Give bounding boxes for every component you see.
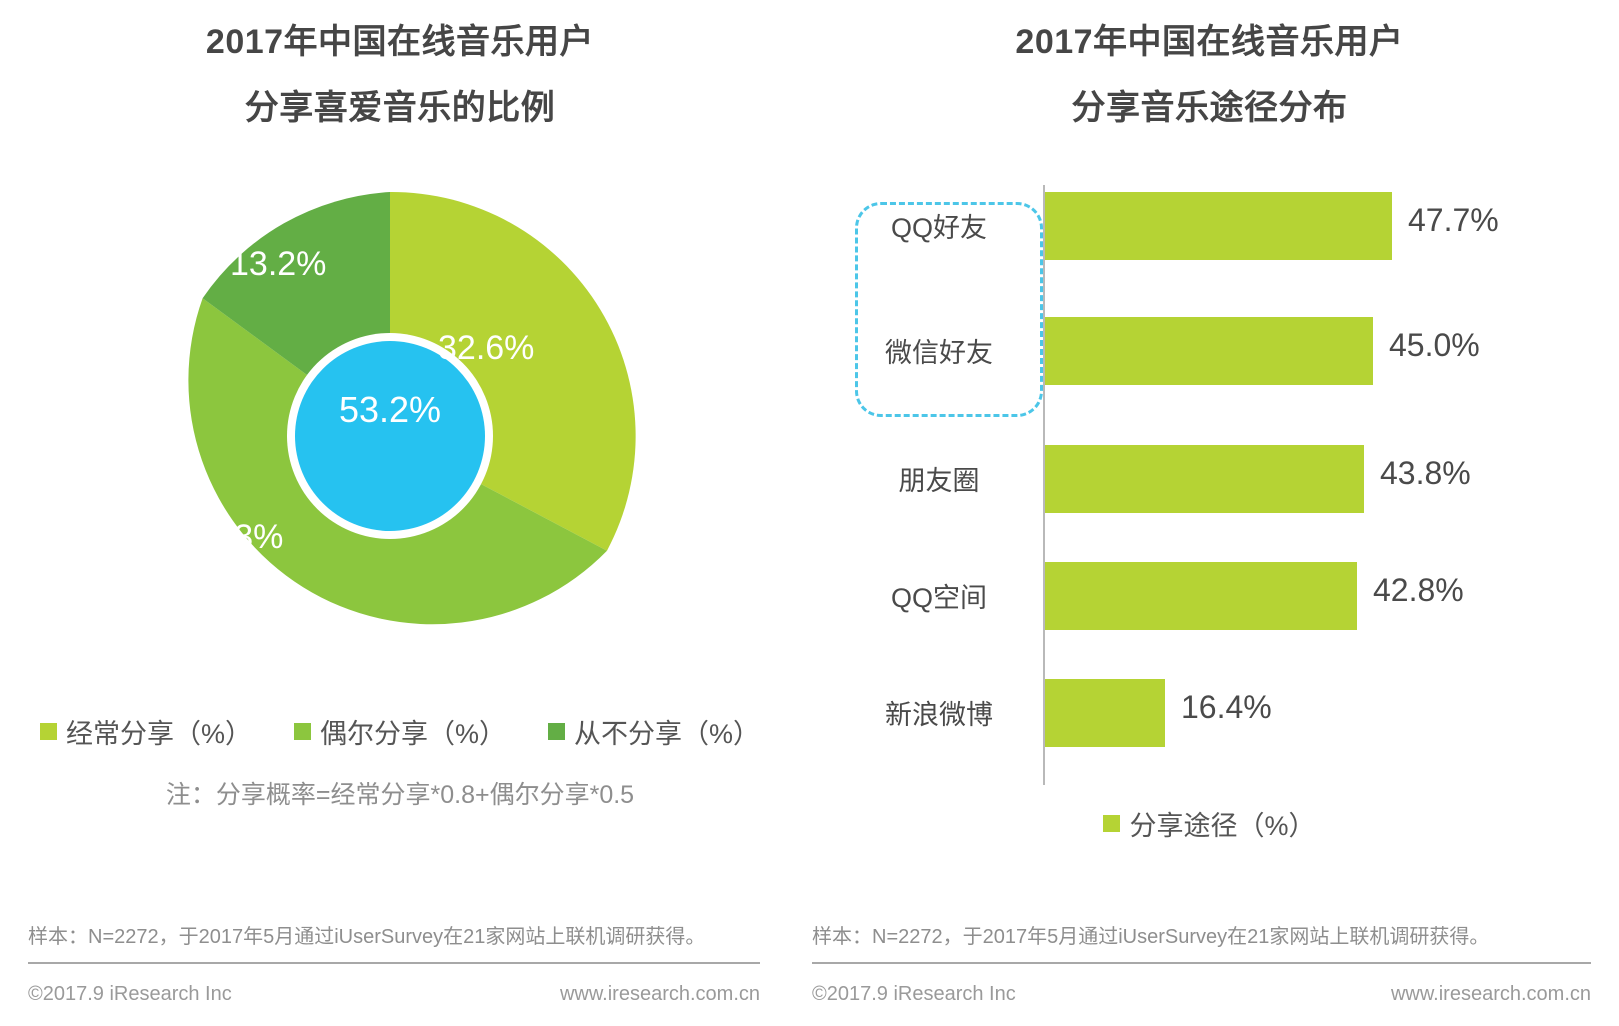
- bar-category-label-3: QQ空间: [834, 576, 1044, 615]
- donut-slice-label-2: 13.2%: [230, 245, 326, 284]
- bar-value-label-0: 47.7%: [1408, 202, 1499, 239]
- legend-label-2: 从不分享（%）: [574, 712, 760, 751]
- legend-swatch-icon-share-channel: [1103, 815, 1120, 832]
- footer-divider-left: [28, 962, 760, 964]
- chart-title-right-line2: 分享音乐途径分布: [800, 66, 1619, 132]
- chart-title-left-line1: 2017年中国在线音乐用户: [0, 0, 800, 66]
- bar-row-qzone[interactable]: QQ空间 42.8%: [800, 550, 1619, 640]
- bar-category-label-4: 新浪微博: [834, 693, 1044, 732]
- legend-right: 分享途径（%）: [800, 804, 1619, 843]
- bar-category-label-0: QQ好友: [834, 206, 1044, 245]
- legend-left: 经常分享（%） 偶尔分享（%） 从不分享（%）: [0, 712, 800, 751]
- chart-title-right-line1: 2017年中国在线音乐用户: [800, 0, 1619, 66]
- footer-sample-left: 样本：N=2272，于2017年5月通过iUserSurvey在21家网站上联机…: [28, 920, 705, 949]
- bar-row-sina-weibo[interactable]: 新浪微博 16.4%: [800, 667, 1619, 757]
- legend-label-1: 偶尔分享（%）: [320, 712, 506, 751]
- left-chart-panel: 2017年中国在线音乐用户 分享喜爱音乐的比例 32.6% 54.3% 13.2…: [0, 0, 800, 1026]
- legend-item-never-share[interactable]: 从不分享（%）: [548, 712, 760, 751]
- bar-value-label-2: 43.8%: [1380, 455, 1471, 492]
- bar-fill-3[interactable]: [1045, 562, 1357, 630]
- chart-note-left: 注：分享概率=经常分享*0.8+偶尔分享*0.5: [0, 775, 800, 811]
- legend-label-0: 经常分享（%）: [66, 712, 252, 751]
- footer-sample-right: 样本：N=2272，于2017年5月通过iUserSurvey在21家网站上联机…: [812, 920, 1489, 949]
- footer-divider-right: [812, 962, 1591, 964]
- bar-row-qq-friends[interactable]: QQ好友 47.7%: [800, 180, 1619, 270]
- bar-value-label-1: 45.0%: [1389, 327, 1480, 364]
- bar-fill-1[interactable]: [1045, 317, 1373, 385]
- bar-fill-4[interactable]: [1045, 679, 1165, 747]
- donut-center-value: 53.2%: [297, 389, 483, 431]
- footer-copyright-right: ©2017.9 iResearch Inc: [812, 983, 1016, 1006]
- chart-title-left-line2: 分享喜爱音乐的比例: [0, 66, 800, 132]
- footer-copyright-left: ©2017.9 iResearch Inc: [28, 983, 232, 1006]
- donut-center-circle[interactable]: [295, 341, 485, 531]
- page-title-right: 2017年中国在线音乐用户 分享音乐途径分布: [800, 0, 1619, 133]
- bar-category-label-2: 朋友圈: [834, 459, 1044, 498]
- donut-slice-label-1: 54.3%: [187, 518, 283, 557]
- bar-fill-2[interactable]: [1045, 445, 1364, 513]
- bar-value-label-4: 16.4%: [1181, 689, 1272, 726]
- legend-swatch-icon-0: [40, 723, 57, 740]
- legend-item-share-channel[interactable]: 分享途径（%）: [1103, 804, 1315, 843]
- legend-label-share-channel: 分享途径（%）: [1129, 804, 1315, 843]
- bar-fill-0[interactable]: [1045, 192, 1392, 260]
- donut-slice-label-0: 32.6%: [438, 329, 534, 368]
- right-chart-panel: 2017年中国在线音乐用户 分享音乐途径分布 QQ好友 47.7% 微信好友 4…: [800, 0, 1619, 1026]
- bar-chart: QQ好友 47.7% 微信好友 45.0% 朋友圈 43.8% QQ空间 42.…: [800, 180, 1619, 800]
- footer-url-right[interactable]: www.iresearch.com.cn: [1391, 983, 1591, 1006]
- donut-chart-svg: [140, 186, 640, 686]
- page-title-left: 2017年中国在线音乐用户 分享喜爱音乐的比例: [0, 0, 800, 133]
- bar-row-moments[interactable]: 朋友圈 43.8%: [800, 433, 1619, 523]
- legend-item-occasional-share[interactable]: 偶尔分享（%）: [294, 712, 506, 751]
- legend-swatch-icon-1: [294, 723, 311, 740]
- legend-swatch-icon-2: [548, 723, 565, 740]
- bar-value-label-3: 42.8%: [1373, 572, 1464, 609]
- donut-chart: 32.6% 54.3% 13.2% 53.2%: [140, 186, 640, 686]
- bar-row-wechat-friends[interactable]: 微信好友 45.0%: [800, 305, 1619, 395]
- legend-item-frequent-share[interactable]: 经常分享（%）: [40, 712, 252, 751]
- footer-url-left[interactable]: www.iresearch.com.cn: [560, 983, 760, 1006]
- bar-category-label-1: 微信好友: [834, 331, 1044, 370]
